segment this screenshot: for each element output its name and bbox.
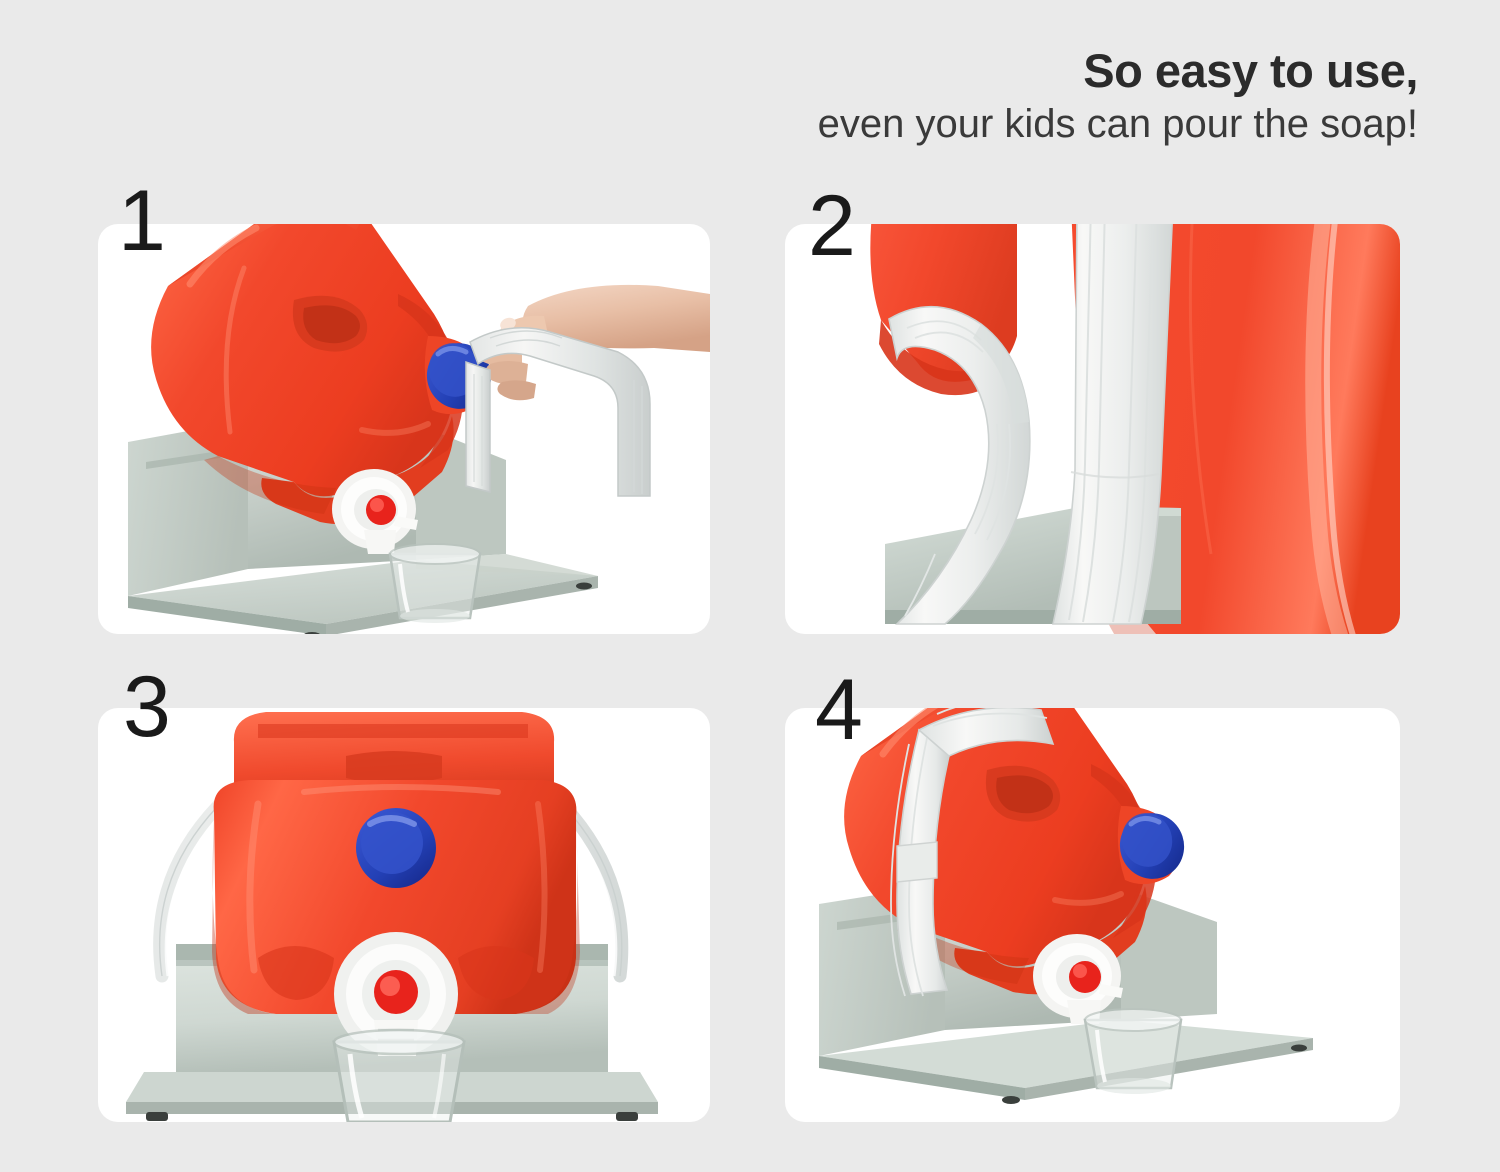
stand-foot: [146, 1112, 168, 1121]
infographic-stage: So easy to use, even your kids can pour …: [0, 0, 1500, 1172]
step-card-1: [98, 224, 710, 634]
stand-foot: [576, 583, 592, 590]
stand-foot: [616, 1112, 638, 1121]
stand-foot: [1002, 1096, 1020, 1104]
step-4-illustration: [785, 708, 1400, 1122]
step-2-illustration: [785, 224, 1400, 634]
step-card-2: [785, 224, 1400, 634]
step-card-3: [98, 708, 710, 1122]
red-spigot-button: [1069, 961, 1101, 993]
step-3-illustration: [98, 708, 710, 1122]
measuring-cup: [334, 1030, 464, 1122]
headline-block: So easy to use, even your kids can pour …: [818, 46, 1418, 147]
step-1-illustration: [98, 224, 710, 634]
measuring-cup: [1085, 1009, 1181, 1094]
headline-secondary: even your kids can pour the soap!: [818, 101, 1418, 147]
step-card-4: [785, 708, 1400, 1122]
step-number-4: 4: [815, 667, 863, 753]
headline-primary: So easy to use,: [818, 46, 1418, 97]
blue-cap: [356, 808, 436, 888]
measuring-cup: [390, 544, 480, 623]
stand-foot: [1291, 1045, 1307, 1052]
step-number-3: 3: [123, 664, 171, 750]
step-number-2: 2: [808, 183, 856, 269]
step-number-1: 1: [118, 178, 166, 264]
